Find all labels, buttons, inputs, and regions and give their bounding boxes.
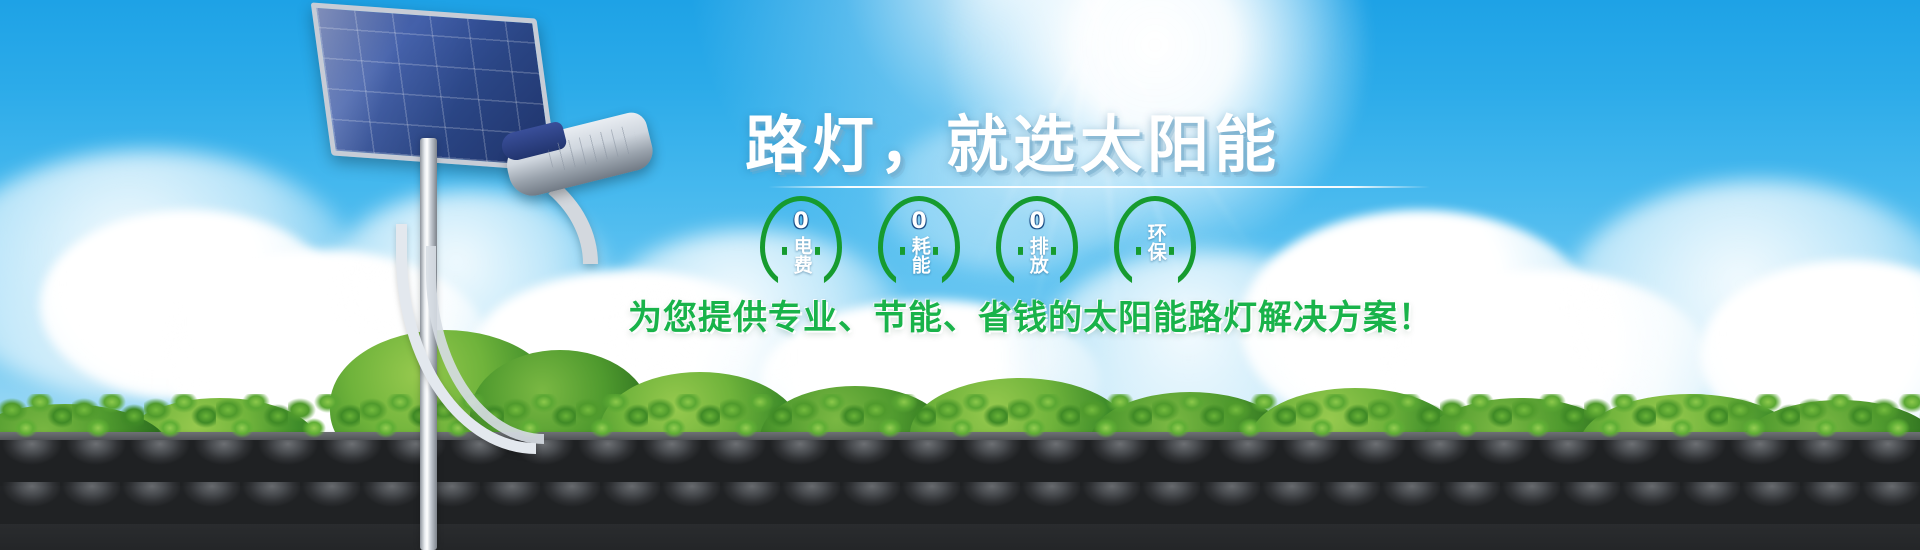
feature-badge-paifang: 0 排放 [996,196,1078,288]
badge-label: 耗能 [909,236,928,274]
feature-badge-list: 0 电费 0 耗能 0 排放 环保 [760,196,1196,288]
divider-line [768,186,1430,188]
subline: 为您提供专业、节能、省钱的太阳能路灯解决方案！ [628,290,1433,339]
badge-label: 电费 [791,236,810,274]
feature-badge-dianfei: 0 电费 [760,196,842,288]
feature-badge-huanbao: 环保 [1114,196,1196,288]
badge-zero-value: 0 [793,211,808,233]
feature-badge-haoneng: 0 耗能 [878,196,960,288]
solar-street-light-banner: 路灯，就选太阳能 0 电费 0 耗能 0 排放 环保 [0,0,1920,550]
headline: 路灯，就选太阳能 [745,94,1281,184]
badge-label: 环保 [1145,223,1164,261]
badge-label: 排放 [1027,236,1046,274]
badge-zero-value: 0 [1029,211,1044,233]
badge-zero-value: 0 [911,211,926,233]
banner-copy: 路灯，就选太阳能 0 电费 0 耗能 0 排放 环保 [0,0,1920,550]
